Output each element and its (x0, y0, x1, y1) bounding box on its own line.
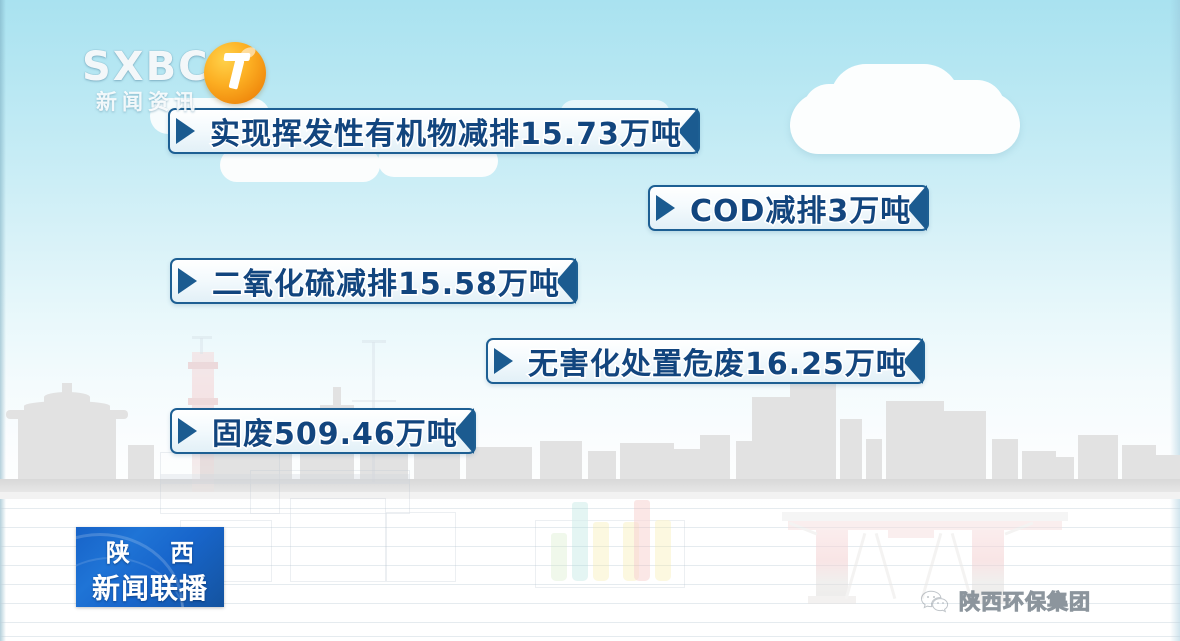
sky-left-edge-shade (0, 0, 6, 641)
numeral-seven-shape (222, 53, 252, 89)
stat-banner-hazardous-waste-text: 无害化处置危废16.25万吨 (528, 339, 907, 383)
wechat-icon (920, 589, 950, 613)
program-logo-line2: 新闻联播 (76, 567, 224, 607)
program-logo-line1: 陕 西 (76, 533, 224, 568)
program-logo: 陕 西 新闻联播 (76, 527, 224, 607)
broadcast-screenshot: 实现挥发性有机物减排15.73万吨 COD减排3万吨 二氧化硫减排15.58万吨… (0, 0, 1180, 641)
channel-logo: SXBC 新闻资讯 (82, 42, 272, 108)
cloud-large-right-puff-3 (803, 84, 873, 136)
stat-banner-so2-text: 二氧化硫减排15.58万吨 (212, 259, 560, 303)
wechat-watermark: 陕西环保集团 (920, 586, 1091, 616)
seven-ball-icon (204, 42, 266, 104)
wechat-watermark-label: 陕西环保集团 (959, 586, 1091, 616)
guide-line (0, 636, 1180, 637)
guide-line (0, 622, 1180, 623)
channel-logo-subtitle: 新闻资讯 (96, 86, 200, 116)
stat-banner-solid-waste-text: 固废509.46万吨 (212, 409, 458, 453)
stat-banner-cod[interactable]: COD减排3万吨 (648, 185, 929, 231)
stat-banner-solid-waste[interactable]: 固废509.46万吨 (170, 408, 476, 454)
stat-banner-cod-text: COD减排3万吨 (690, 186, 911, 230)
stat-banner-voc[interactable]: 实现挥发性有机物减排15.73万吨 (168, 108, 700, 154)
stat-banner-hazardous-waste[interactable]: 无害化处置危废16.25万吨 (486, 338, 925, 384)
channel-logo-wordmark: SXBC (82, 44, 210, 90)
stat-banner-so2[interactable]: 二氧化硫减排15.58万吨 (170, 258, 578, 304)
cloud-large-right-puff-2 (925, 80, 1005, 136)
stat-banner-voc-text: 实现挥发性有机物减排15.73万吨 (210, 109, 682, 153)
sky-right-edge-shade (1170, 0, 1180, 641)
